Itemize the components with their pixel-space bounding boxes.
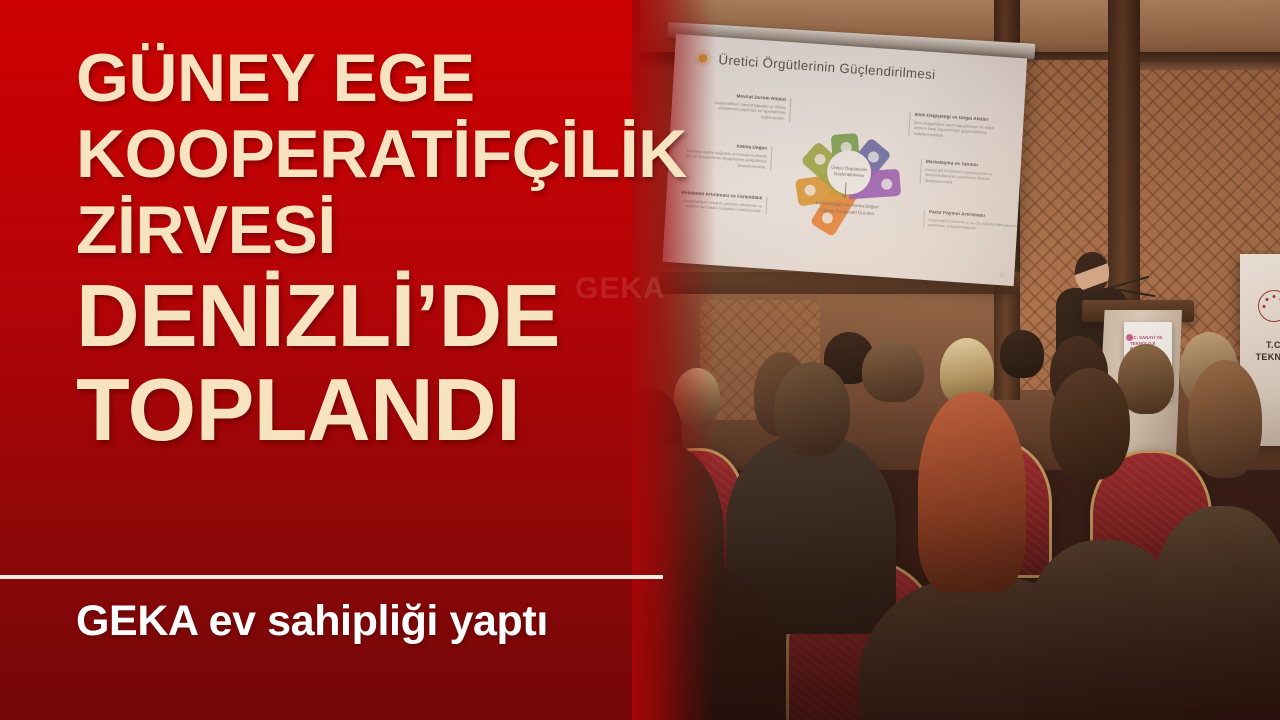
headline-line-3: ZİRVESİ — [76, 196, 756, 264]
headline-line-4: DENİZLİ’DE — [76, 272, 756, 360]
audience-person — [774, 362, 850, 456]
news-thumbnail: Üretici Örgütlerinin Güçlendirilmesi Mev… — [0, 0, 1280, 720]
republic-emblem-icon — [1258, 290, 1280, 322]
arc-wheel-diagram: Üretici Örgütlerinin Güçlendirilmesi Kat… — [791, 115, 907, 230]
slide-callout: Pazar Payının Artırılması Kooperatif ürü… — [923, 210, 1021, 235]
headline-line-2: KOOPERATİFÇİLİK — [76, 120, 756, 188]
headline: GÜNEY EGE KOOPERATİFÇİLİK ZİRVESİ DENİZL… — [76, 44, 756, 460]
audience-person — [1152, 506, 1280, 706]
slide-callout: Markalaşma ve Tanıtım Kooperatif ürünler… — [920, 159, 1018, 190]
audience-person — [1188, 360, 1262, 478]
headline-line-5: TOPLANDI — [76, 366, 756, 454]
slide-corner-mark — [999, 272, 1005, 278]
headline-line-1: GÜNEY EGE — [76, 44, 756, 112]
audience-person — [918, 392, 1026, 592]
slide-callout: İklim Değişikliği ve Doğal Afetler İklim… — [908, 112, 1006, 143]
subtitle: GEKA ev sahipliği yaptı — [76, 597, 548, 646]
speaker-head — [1075, 252, 1109, 292]
audience-person — [862, 340, 924, 402]
audience-person — [1000, 330, 1044, 378]
headline-divider — [0, 575, 663, 579]
audience-person — [1050, 368, 1130, 480]
